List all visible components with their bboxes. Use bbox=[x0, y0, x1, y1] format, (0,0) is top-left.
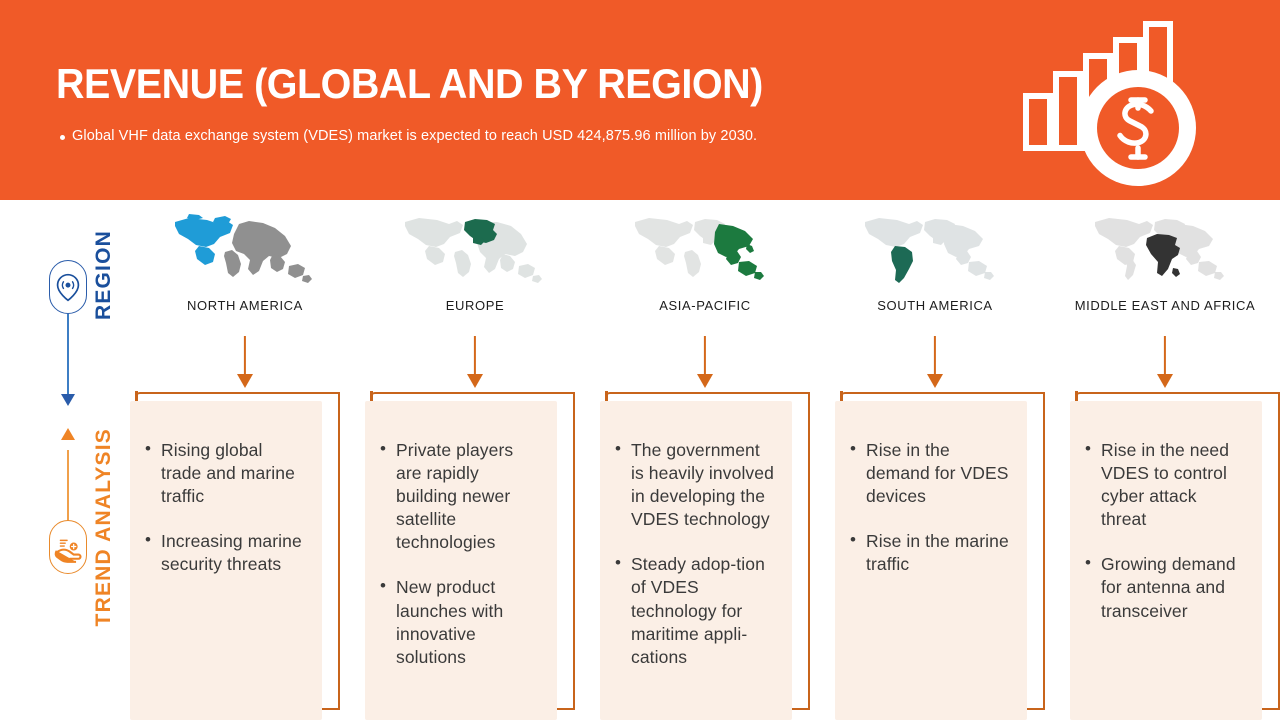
list-item: Rise in the demand for VDES devices bbox=[849, 439, 1011, 508]
region-column-middle-east-africa[interactable]: MIDDLE EAST AND AFRICA bbox=[1050, 212, 1280, 332]
list-item: New product launches with innovative sol… bbox=[379, 576, 541, 668]
trend-card-south-america[interactable]: Rise in the demand for VDES devices Rise… bbox=[835, 392, 1045, 720]
trend-card-middle-east-africa[interactable]: Rise in the need VDES to control cyber a… bbox=[1070, 392, 1280, 720]
region-row: NORTH AMERICA EUROPE bbox=[130, 212, 1280, 332]
left-rail: REGION TREND ANALYSIS bbox=[0, 200, 130, 720]
card-body: Rising global trade and marine traffic I… bbox=[130, 401, 322, 720]
card-bullet-list: The government is heavily involved in de… bbox=[600, 401, 792, 679]
list-item: The government is heavily involved in de… bbox=[614, 439, 776, 531]
card-bullet-list: Rising global trade and marine traffic I… bbox=[130, 401, 322, 586]
trend-card-asia-pacific[interactable]: The government is heavily involved in de… bbox=[600, 392, 810, 720]
arrow-stem bbox=[244, 336, 246, 376]
connector-arrow-south-america bbox=[820, 336, 1050, 392]
trend-analysis-axis-label: TREND ANALYSIS bbox=[92, 428, 116, 626]
page-title: REVENUE (GLOBAL AND BY REGION) bbox=[56, 60, 763, 108]
region-label: ASIA-PACIFIC bbox=[659, 298, 750, 313]
bar-chart-dollar-icon bbox=[1018, 18, 1218, 193]
arrow-head-down-icon bbox=[697, 374, 713, 388]
trend-card-europe[interactable]: Private players are rapidly building new… bbox=[365, 392, 575, 720]
trend-icon-pill bbox=[49, 520, 87, 574]
card-bullet-list: Rise in the need VDES to control cyber a… bbox=[1070, 401, 1262, 633]
card-body: Rise in the demand for VDES devices Rise… bbox=[835, 401, 1027, 720]
header-subtitle-row: Global VHF data exchange system (VDES) m… bbox=[60, 127, 757, 146]
hand-coin-analysis-icon bbox=[50, 521, 86, 573]
arrow-head-down-icon bbox=[1157, 374, 1173, 388]
region-icon-pill bbox=[49, 260, 87, 314]
header-subtitle: Global VHF data exchange system (VDES) m… bbox=[72, 127, 757, 146]
region-label: MIDDLE EAST AND AFRICA bbox=[1075, 298, 1256, 313]
card-bullet-list: Private players are rapidly building new… bbox=[365, 401, 557, 679]
trend-arrow-up-icon bbox=[61, 428, 75, 440]
region-column-south-america[interactable]: SOUTH AMERICA bbox=[820, 212, 1050, 332]
region-label: SOUTH AMERICA bbox=[877, 298, 992, 313]
arrow-head-down-icon bbox=[467, 374, 483, 388]
list-item: Growing demand for antenna and transceiv… bbox=[1084, 553, 1246, 622]
region-connector-line bbox=[67, 314, 69, 396]
arrow-stem bbox=[1164, 336, 1166, 376]
card-body: The government is heavily involved in de… bbox=[600, 401, 792, 720]
list-item: Steady adop-tion of VDES technology for … bbox=[614, 553, 776, 668]
bullet-dot-icon bbox=[60, 135, 65, 140]
header-banner: REVENUE (GLOBAL AND BY REGION) Global VH… bbox=[0, 0, 1280, 200]
connector-arrow-north-america bbox=[130, 336, 360, 392]
world-map-south-america-icon bbox=[859, 212, 1011, 290]
region-column-north-america[interactable]: NORTH AMERICA bbox=[130, 212, 360, 332]
arrow-head-down-icon bbox=[927, 374, 943, 388]
arrow-stem bbox=[934, 336, 936, 376]
world-map-asia-pacific-icon bbox=[629, 212, 781, 290]
region-arrow-down-icon bbox=[61, 394, 75, 406]
arrow-stem bbox=[704, 336, 706, 376]
list-item: Private players are rapidly building new… bbox=[379, 439, 541, 554]
list-item: Increasing marine security threats bbox=[144, 530, 306, 576]
card-bullet-list: Rise in the demand for VDES devices Rise… bbox=[835, 401, 1027, 586]
world-map-middle-east-africa-icon bbox=[1089, 212, 1241, 290]
trend-card-north-america[interactable]: Rising global trade and marine traffic I… bbox=[130, 392, 340, 720]
trend-connector-line bbox=[67, 450, 69, 526]
region-column-europe[interactable]: EUROPE bbox=[360, 212, 590, 332]
list-item: Rise in the marine traffic bbox=[849, 530, 1011, 576]
card-body: Private players are rapidly building new… bbox=[365, 401, 557, 720]
connector-arrow-asia-pacific bbox=[590, 336, 820, 392]
region-axis-label: REGION bbox=[92, 230, 116, 320]
connector-arrow-europe bbox=[360, 336, 590, 392]
arrow-head-down-icon bbox=[237, 374, 253, 388]
location-pin-signal-icon bbox=[50, 261, 86, 313]
arrow-stem bbox=[474, 336, 476, 376]
trend-card-row: Rising global trade and marine traffic I… bbox=[130, 392, 1280, 720]
world-map-north-america-icon bbox=[169, 212, 321, 290]
region-column-asia-pacific[interactable]: ASIA-PACIFIC bbox=[590, 212, 820, 332]
region-label: NORTH AMERICA bbox=[187, 298, 303, 313]
list-item: Rising global trade and marine traffic bbox=[144, 439, 306, 508]
connector-arrow-row bbox=[130, 336, 1280, 392]
card-body: Rise in the need VDES to control cyber a… bbox=[1070, 401, 1262, 720]
list-item: Rise in the need VDES to control cyber a… bbox=[1084, 439, 1246, 531]
region-label: EUROPE bbox=[446, 298, 505, 313]
connector-arrow-middle-east-africa bbox=[1050, 336, 1280, 392]
world-map-europe-icon bbox=[399, 212, 551, 290]
